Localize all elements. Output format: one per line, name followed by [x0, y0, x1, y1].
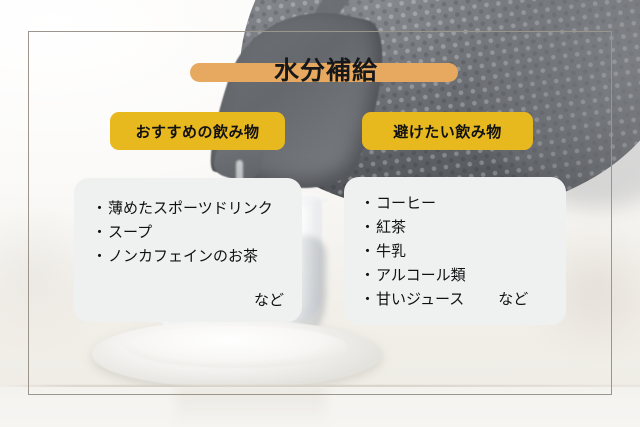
list-item-label: 甘いジュース [376, 290, 464, 308]
bullet-icon: ・ [360, 266, 375, 284]
list-item-label: 紅茶 [376, 218, 406, 236]
list-item: ・紅茶 [360, 215, 554, 239]
page-title-text: 水分補給 [186, 52, 466, 90]
bullet-icon: ・ [92, 223, 107, 241]
list-item: ・スープ [92, 220, 290, 244]
bullet-icon: ・ [360, 194, 375, 212]
list-item-label: 薄めたスポーツドリンク [108, 199, 273, 217]
table-reflection [176, 386, 326, 427]
bullet-icon: ・ [360, 218, 375, 236]
list-item: ・ノンカフェインのお茶 [92, 244, 290, 268]
badge-recommended-drinks-label: おすすめの飲み物 [135, 121, 259, 142]
list-item-label: スープ [108, 223, 152, 241]
card-avoid-drinks: ・コーヒー ・紅茶 ・牛乳 ・アルコール類 ・甘いジュースなど [344, 177, 566, 325]
list-item: ・コーヒー [360, 191, 554, 215]
bullet-icon: ・ [92, 199, 107, 217]
slide-canvas: 水分補給 おすすめの飲み物 避けたい飲み物 ・薄めたスポーツドリンク ・スープ … [0, 0, 640, 427]
list-item: ・甘いジュースなど [360, 287, 554, 311]
list-item-label: 牛乳 [376, 242, 406, 260]
card-recommended-drinks: ・薄めたスポーツドリンク ・スープ ・ノンカフェインのお茶 など [74, 178, 302, 322]
list-item-label: ノンカフェインのお茶 [108, 247, 258, 265]
list-item-label: コーヒー [376, 194, 436, 212]
badge-recommended-drinks: おすすめの飲み物 [110, 112, 285, 150]
saucer-inner [126, 326, 348, 368]
list-item: ・アルコール類 [360, 263, 554, 287]
recommended-drinks-list: ・薄めたスポーツドリンク ・スープ ・ノンカフェインのお茶 [92, 196, 290, 268]
page-title: 水分補給 [186, 52, 466, 90]
recommended-drinks-suffix: など [254, 289, 284, 310]
bullet-icon: ・ [360, 242, 375, 260]
bullet-icon: ・ [92, 247, 107, 265]
badge-avoid-drinks: 避けたい飲み物 [362, 112, 533, 150]
list-item-label: アルコール類 [376, 266, 466, 284]
list-item: ・薄めたスポーツドリンク [92, 196, 290, 220]
bullet-icon: ・ [360, 290, 375, 308]
list-item: ・牛乳 [360, 239, 554, 263]
avoid-drinks-list: ・コーヒー ・紅茶 ・牛乳 ・アルコール類 ・甘いジュースなど [360, 191, 554, 311]
badge-avoid-drinks-label: 避けたい飲み物 [393, 121, 502, 142]
avoid-drinks-suffix: など [498, 290, 528, 308]
